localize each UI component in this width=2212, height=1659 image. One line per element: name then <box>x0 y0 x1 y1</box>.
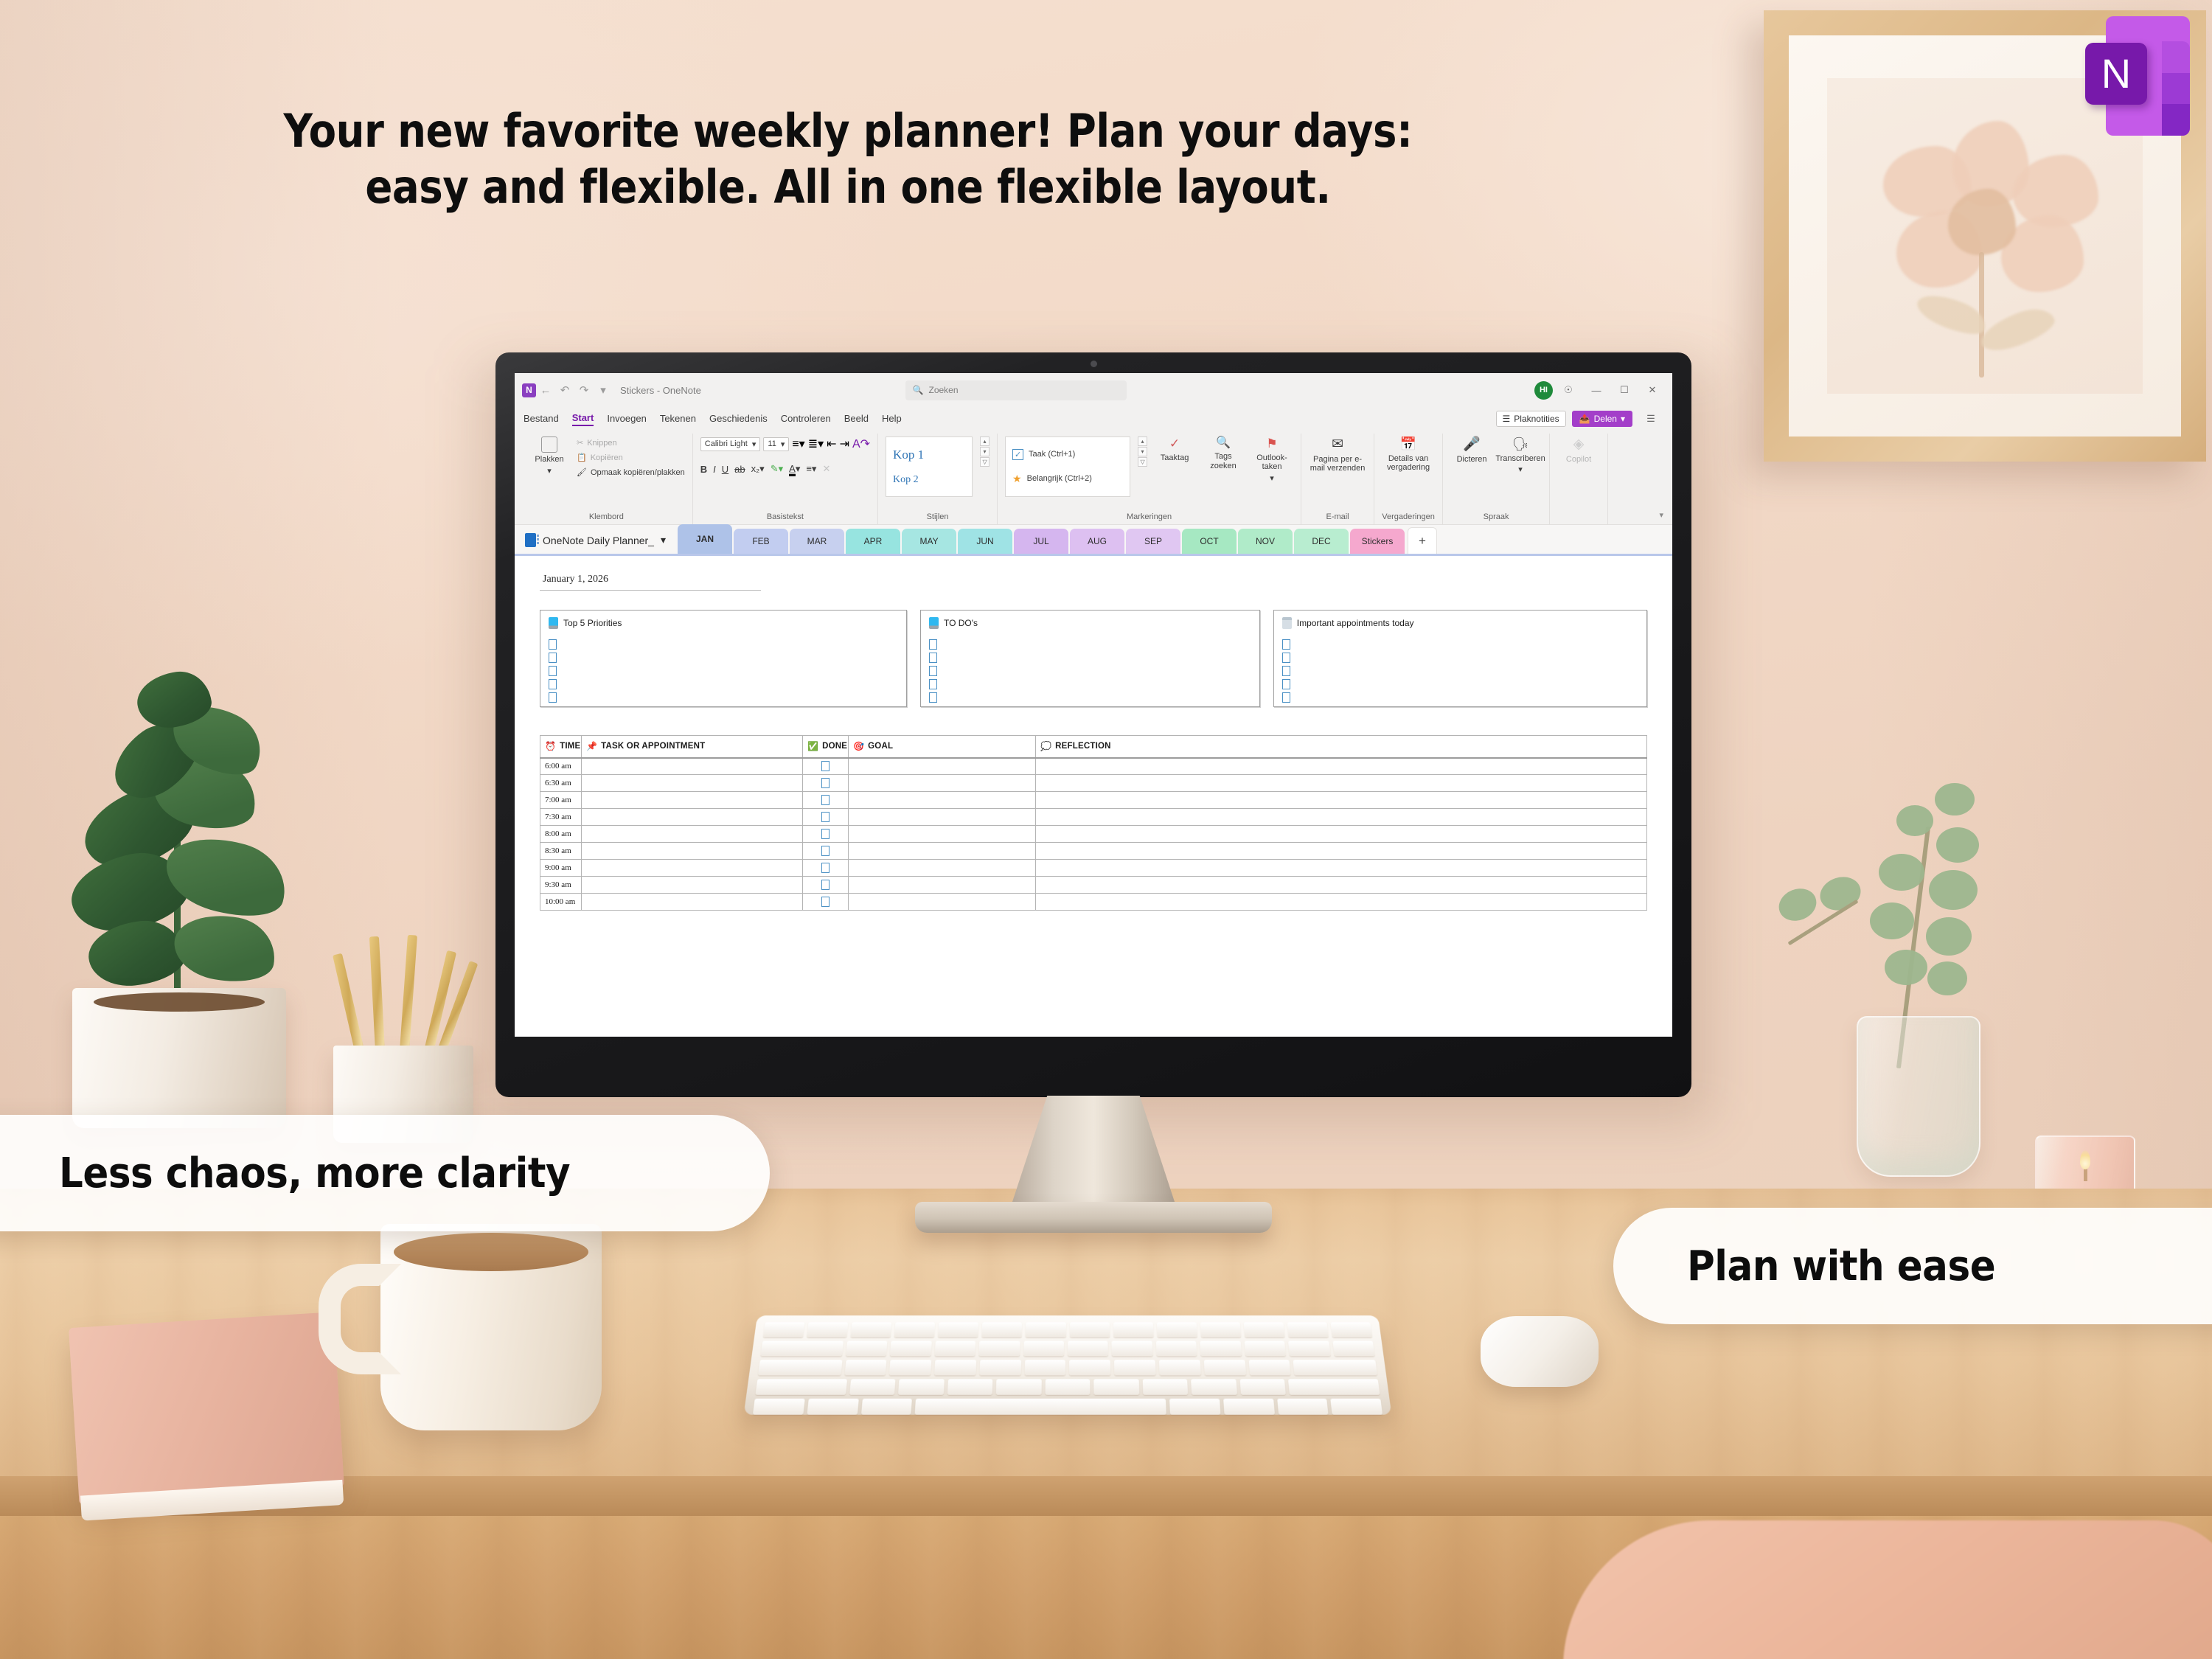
sticky-notes-button[interactable]: ☰ Plaknotities <box>1496 411 1566 427</box>
back-icon[interactable]: ← <box>536 381 555 399</box>
copy-button[interactable]: 📋 Kopiëren <box>577 453 685 462</box>
group-label-klembord: Klembord <box>528 511 685 524</box>
share-button[interactable]: 📤 Delen ▾ <box>1572 411 1632 427</box>
star-icon: ★ <box>1012 473 1022 485</box>
section-tab-sep[interactable]: SEP <box>1126 529 1180 554</box>
cell-goal[interactable] <box>849 792 1036 809</box>
redo-icon[interactable]: ↷ <box>574 381 594 399</box>
checkbox[interactable] <box>821 829 829 839</box>
section-tab-apr[interactable]: APR <box>846 529 900 554</box>
onenote-logo-letter: N <box>2085 43 2147 105</box>
cut-button[interactable]: ✂ Knippen <box>577 438 685 448</box>
cell-goal[interactable] <box>849 877 1036 894</box>
sticky-notes-label: Plaknotities <box>1514 414 1559 424</box>
ribbon-group-klembord: Plakken ▾ ✂ Knippen 📋 Kopiëren <box>521 434 693 524</box>
cell-task[interactable] <box>582 809 803 826</box>
style-kop1[interactable]: Kop 1 <box>893 448 965 462</box>
ribbon-group-stijlen: Kop 1 Kop 2 ▴ ▾ ▽ Stijlen <box>878 434 998 524</box>
table-row[interactable]: 8:00 am <box>540 826 1647 843</box>
tag-task-label: Taak (Ctrl+1) <box>1029 450 1075 459</box>
ribbon-group-email: ✉ Pagina per e-mail verzenden E-mail <box>1301 434 1374 524</box>
clear-formatting-icon[interactable]: A↷ <box>852 437 870 451</box>
cell-reflection[interactable] <box>1036 894 1647 911</box>
table-row[interactable]: 9:00 am <box>540 860 1647 877</box>
collapse-ribbon-icon[interactable]: ▾ <box>1659 510 1663 520</box>
close-button[interactable]: ✕ <box>1640 380 1665 400</box>
group-label-email: E-mail <box>1309 511 1366 524</box>
clear-format-icon[interactable]: ✕ <box>822 463 830 475</box>
chevron-down-icon: ▾ <box>752 439 757 449</box>
section-tab-aug[interactable]: AUG <box>1070 529 1124 554</box>
group-label-vergaderingen: Vergaderingen <box>1382 511 1435 524</box>
checkbox[interactable] <box>1282 653 1290 663</box>
copilot-icon: ◈ <box>1573 437 1585 453</box>
share-icon: 📤 <box>1579 414 1590 424</box>
restore-button[interactable]: ☐ <box>1612 380 1637 400</box>
checkbox[interactable] <box>1282 639 1290 650</box>
titlebar-right-controls: HI ☉ — ☐ ✕ <box>1534 380 1665 400</box>
font-size-value: 11 <box>768 439 776 448</box>
styles-gallery[interactable]: Kop 1 Kop 2 <box>886 437 973 497</box>
cell-task[interactable] <box>582 826 803 843</box>
outlook-tasks-button[interactable]: ⚑ Outlook-taken ▾ <box>1251 437 1293 483</box>
target-icon: 🎯 <box>853 742 864 751</box>
badge-less-chaos: Less chaos, more clarity <box>0 1115 770 1231</box>
menu-tab-beeld[interactable]: Beeld <box>844 413 869 425</box>
checkbox-list <box>549 639 898 703</box>
checkbox-list <box>1282 639 1638 703</box>
section-tab-may[interactable]: MAY <box>902 529 956 554</box>
ribbon-group-markeringen: ✓ Taak (Ctrl+1) ★ Belangrijk (Ctrl+2) ▴ <box>998 434 1301 524</box>
scroll-up-icon[interactable]: ▴ <box>980 437 990 446</box>
find-tags-label: Tags zoeken <box>1202 452 1245 470</box>
cell-goal[interactable] <box>849 894 1036 911</box>
cell-goal[interactable] <box>849 775 1036 792</box>
monitor-screen: N ← ↶ ↷ ▾ Stickers - OneNote 🔍 Zoeken HI… <box>515 373 1672 1037</box>
copilot-button[interactable]: ◈ Copilot <box>1557 437 1600 464</box>
email-page-button[interactable]: ✉ Pagina per e-mail verzenden <box>1309 437 1366 473</box>
group-label-markeringen: Markeringen <box>1005 511 1293 524</box>
column-header-reflection: 💭REFLECTION <box>1036 736 1647 758</box>
table-header-row: ⏰TIME 📌TASK OR APPOINTMENT ✅DONE 🎯GOAL <box>540 736 1647 758</box>
task-tag-label: Taaktag <box>1161 453 1189 463</box>
customize-quick-access-icon[interactable]: ▾ <box>594 381 613 399</box>
title-bar: N ← ↶ ↷ ▾ Stickers - OneNote 🔍 Zoeken HI… <box>515 373 1672 407</box>
section-tab-stickers[interactable]: Stickers <box>1350 529 1405 554</box>
panel-title: Important appointments today <box>1297 618 1414 628</box>
ribbon-tab-bar: Bestand Start Invoegen Tekenen Geschiede… <box>515 407 1672 431</box>
tags-scroll[interactable]: ▴ ▾ ▽ <box>1138 437 1147 467</box>
cell-reflection[interactable] <box>1036 843 1647 860</box>
menu-right-actions: ☰ Plaknotities 📤 Delen ▾ ☰ <box>1496 409 1663 428</box>
mug-coffee <box>394 1233 588 1271</box>
cell-done[interactable] <box>803 894 849 911</box>
cell-done[interactable] <box>803 843 849 860</box>
highlight-icon[interactable]: ✎▾ <box>771 463 783 475</box>
scroll-down-icon[interactable]: ▾ <box>1138 447 1147 456</box>
checkbox[interactable] <box>929 692 937 703</box>
menu-tab-help[interactable]: Help <box>882 413 902 425</box>
table-row[interactable]: 7:30 am <box>540 809 1647 826</box>
cell-task[interactable] <box>582 877 803 894</box>
app-icon: N <box>522 383 536 397</box>
format-row: B I U ab x₂▾ ✎▾ A▾ ≡▾ ✕ <box>700 463 831 475</box>
cell-done[interactable] <box>803 758 849 775</box>
cell-reflection[interactable] <box>1036 860 1647 877</box>
coffee-mug <box>380 1224 602 1430</box>
cell-task[interactable] <box>582 843 803 860</box>
cell-goal[interactable] <box>849 826 1036 843</box>
notebook-selector[interactable]: OneNote Daily Planner_ ▾ <box>515 533 678 554</box>
cell-done[interactable] <box>803 860 849 877</box>
paste-icon <box>541 437 557 453</box>
cell-goal[interactable] <box>849 843 1036 860</box>
thought-bubble-icon: 💭 <box>1040 742 1051 751</box>
tag-important-label: Belangrijk (Ctrl+2) <box>1027 474 1092 483</box>
format-painter-button[interactable]: 🖌 Opmaak kopiëren/plakken <box>577 467 685 477</box>
flag-icon: ⚑ <box>1266 437 1277 451</box>
table-row[interactable]: 6:30 am <box>540 775 1647 792</box>
table-row[interactable]: 10:00 am <box>540 894 1647 911</box>
cell-reflection[interactable] <box>1036 792 1647 809</box>
chevron-down-icon: ▾ <box>661 534 666 546</box>
group-label-spraak: Spraak <box>1450 511 1542 524</box>
cell-done[interactable] <box>803 877 849 894</box>
share-label: Delen <box>1594 414 1617 424</box>
font-name-select[interactable]: Calibri Light ▾ <box>700 437 761 451</box>
keyboard[interactable] <box>744 1315 1392 1415</box>
chevron-down-icon: ▾ <box>547 467 552 476</box>
badge-plan-with-ease: Plan with ease <box>1613 1208 2212 1324</box>
paste-button[interactable]: Plakken ▾ <box>528 437 571 476</box>
microphone-icon: 🎤 <box>1463 437 1481 453</box>
underline-button[interactable]: U <box>722 464 728 475</box>
ribbon: Plakken ▾ ✂ Knippen 📋 Kopiëren <box>515 431 1672 525</box>
group-label-basistekst: Basistekst <box>700 511 870 524</box>
subscript-button[interactable]: x₂▾ <box>751 463 765 475</box>
onenote-logo: N <box>2085 16 2190 136</box>
check-mark-icon: ✅ <box>807 742 818 751</box>
group-label-copilot <box>1557 520 1600 524</box>
checkbox[interactable] <box>929 639 937 650</box>
font-row: Calibri Light ▾ 11 ▾ ≡▾ ≣▾ ⇤ ⇥ <box>700 437 870 451</box>
transcribe-label: Transcriberen <box>1495 454 1545 464</box>
minimize-button[interactable]: — <box>1584 380 1609 400</box>
table-row[interactable]: 7:00 am <box>540 792 1647 809</box>
expand-gallery-icon[interactable]: ▽ <box>980 457 990 467</box>
styles-scroll[interactable]: ▴ ▾ ▽ <box>980 437 990 467</box>
group-label-stijlen: Stijlen <box>886 511 990 524</box>
checkbox[interactable] <box>1282 692 1290 703</box>
paste-label: Plakken <box>535 455 563 465</box>
cell-time: 8:00 am <box>540 826 582 843</box>
menu-tab-bestand[interactable]: Bestand <box>524 413 559 425</box>
tag-task[interactable]: ✓ Taak (Ctrl+1) <box>1012 449 1123 460</box>
calendar-icon: 📅 <box>1400 437 1416 452</box>
numbered-list-icon[interactable]: ≣▾ <box>808 437 824 451</box>
avatar[interactable]: HI <box>1534 381 1553 400</box>
checkbox[interactable] <box>929 666 937 676</box>
chevron-down-icon: ▾ <box>1270 474 1274 484</box>
panel-title: Top 5 Priorities <box>563 618 622 628</box>
panel-header: Important appointments today <box>1282 617 1638 629</box>
section-tab-nov[interactable]: NOV <box>1238 529 1293 554</box>
checkbox[interactable] <box>821 880 829 890</box>
tag-important[interactable]: ★ Belangrijk (Ctrl+2) <box>1012 473 1123 485</box>
header-label: REFLECTION <box>1055 742 1110 751</box>
cell-time: 8:30 am <box>540 843 582 860</box>
checkbox[interactable] <box>549 679 557 689</box>
checkbox[interactable] <box>1282 679 1290 689</box>
window-title: Stickers - OneNote <box>620 385 701 396</box>
cell-reflection[interactable] <box>1036 877 1647 894</box>
expand-tags-icon[interactable]: ▽ <box>1138 457 1147 467</box>
section-tab-feb[interactable]: FEB <box>734 529 788 554</box>
meeting-details-label: Details van vergadering <box>1382 454 1435 473</box>
chevron-down-icon: ▾ <box>1518 465 1523 475</box>
monitor-stand-base <box>915 1202 1272 1233</box>
checkbox[interactable] <box>821 897 829 907</box>
check-tag-icon: ✓ <box>1169 437 1180 451</box>
panel-appointments[interactable]: Important appointments today <box>1273 610 1647 707</box>
cell-time: 6:00 am <box>540 758 582 775</box>
copy-label: Kopiëren <box>591 453 623 462</box>
cell-reflection[interactable] <box>1036 775 1647 792</box>
transcribe-button[interactable]: 🗣 Transcriberen ▾ <box>1499 437 1542 475</box>
checkbox[interactable] <box>821 863 829 873</box>
webcam <box>1091 361 1097 367</box>
find-tags-button[interactable]: 🔍 Tags zoeken <box>1202 437 1245 471</box>
increase-indent-icon[interactable]: ⇥ <box>840 437 849 451</box>
undo-icon[interactable]: ↶ <box>555 381 574 399</box>
panel-todos[interactable]: TO DO's <box>920 610 1260 707</box>
search-tags-icon: 🔍 <box>1216 437 1231 450</box>
style-kop2[interactable]: Kop 2 <box>893 474 965 486</box>
cell-task[interactable] <box>582 775 803 792</box>
paintbrush-icon: 🖌 <box>577 467 587 477</box>
section-tab-oct[interactable]: OCT <box>1182 529 1237 554</box>
notebook-icon <box>525 533 536 547</box>
panel-top-priorities[interactable]: Top 5 Priorities <box>540 610 907 707</box>
menu-tab-tekenen[interactable]: Tekenen <box>660 413 696 425</box>
cell-time: 9:30 am <box>540 877 582 894</box>
page-canvas[interactable]: January 1, 2026 Top 5 Priorities <box>515 556 1672 1037</box>
section-tabs: JAN FEB MAR APR MAY JUN JUL AUG SEP OCT … <box>678 524 1437 554</box>
daily-schedule-table[interactable]: ⏰TIME 📌TASK OR APPOINTMENT ✅DONE 🎯GOAL <box>540 735 1647 911</box>
column-header-time: ⏰TIME <box>540 736 582 758</box>
header-label: DONE <box>822 742 847 751</box>
table-row[interactable]: 6:00 am <box>540 758 1647 775</box>
monitor-icon <box>549 617 558 629</box>
checkbox[interactable] <box>549 666 557 676</box>
menu-tab-invoegen[interactable]: Invoegen <box>607 413 647 425</box>
format-painter-label: Opmaak kopiëren/plakken <box>591 468 685 477</box>
headline-line-1: Your new favorite weekly planner! Plan y… <box>102 103 1594 159</box>
italic-button[interactable]: I <box>713 464 716 475</box>
sticky-note-icon: ☰ <box>1503 414 1511 424</box>
header-label: GOAL <box>868 742 893 751</box>
copy-icon: 📋 <box>577 453 587 462</box>
cell-done[interactable] <box>803 792 849 809</box>
table-row[interactable]: 8:30 am <box>540 843 1647 860</box>
cell-time: 10:00 am <box>540 894 582 911</box>
cell-goal[interactable] <box>849 860 1036 877</box>
search-icon: 🔍 <box>913 385 924 395</box>
section-tab-jan[interactable]: JAN <box>678 524 732 554</box>
checkbox[interactable] <box>929 679 937 689</box>
scroll-up-icon[interactable]: ▴ <box>1138 437 1147 446</box>
panel-header: TO DO's <box>929 617 1251 629</box>
table-row[interactable]: 9:30 am <box>540 877 1647 894</box>
column-header-goal: 🎯GOAL <box>849 736 1036 758</box>
mug-handle <box>319 1264 401 1374</box>
cell-goal[interactable] <box>849 758 1036 775</box>
envelope-icon: ✉ <box>1332 437 1343 453</box>
onenote-logo-tabs <box>2162 41 2190 136</box>
alarm-clock-icon: ⏰ <box>545 742 556 751</box>
ribbon-group-basistekst: Calibri Light ▾ 11 ▾ ≡▾ ≣▾ ⇤ ⇥ <box>693 434 878 524</box>
section-tab-dec[interactable]: DEC <box>1294 529 1349 554</box>
location-pin-icon[interactable]: ☉ <box>1556 380 1581 400</box>
chevron-down-icon: ▾ <box>1621 414 1625 424</box>
pushpin-icon: 📌 <box>586 742 597 751</box>
cell-time: 7:00 am <box>540 792 582 809</box>
sweater-throw <box>1563 1520 2212 1659</box>
onenote-application: N ← ↶ ↷ ▾ Stickers - OneNote 🔍 Zoeken HI… <box>515 373 1672 1037</box>
checkbox-icon: ✓ <box>1012 449 1023 460</box>
column-header-task: 📌TASK OR APPOINTMENT <box>582 736 803 758</box>
building-icon <box>1282 617 1292 629</box>
bullet-list-icon[interactable]: ≡▾ <box>792 437 804 451</box>
cell-reflection[interactable] <box>1036 826 1647 843</box>
cell-task[interactable] <box>582 860 803 877</box>
monitor-icon <box>929 617 939 629</box>
cell-reflection[interactable] <box>1036 809 1647 826</box>
checkbox[interactable] <box>549 639 557 650</box>
section-tab-mar[interactable]: MAR <box>790 529 844 554</box>
page-title-date[interactable]: January 1, 2026 <box>540 572 761 591</box>
checkbox[interactable] <box>929 653 937 663</box>
cell-time: 9:00 am <box>540 860 582 877</box>
table-body: 6:00 am 6:30 am 7:00 am 7:30 am 8:00 am … <box>540 758 1647 911</box>
checkbox[interactable] <box>821 795 829 805</box>
section-tab-jun[interactable]: JUN <box>958 529 1012 554</box>
mouse[interactable] <box>1481 1316 1599 1387</box>
copilot-label: Copilot <box>1566 455 1591 465</box>
checkbox[interactable] <box>821 846 829 856</box>
dictate-label: Dicteren <box>1457 455 1487 465</box>
scissors-icon: ✂ <box>577 438 583 448</box>
menu-tab-controleren[interactable]: Controleren <box>781 413 831 425</box>
cell-reflection[interactable] <box>1036 758 1647 775</box>
cell-task[interactable] <box>582 758 803 775</box>
cell-done[interactable] <box>803 826 849 843</box>
email-page-label: Pagina per e-mail verzenden <box>1309 455 1366 473</box>
scroll-down-icon[interactable]: ▾ <box>980 447 990 456</box>
cut-label: Knippen <box>587 439 616 448</box>
add-section-button[interactable]: + <box>1408 527 1437 554</box>
panel-title: TO DO's <box>944 618 978 628</box>
ribbon-group-spraak: 🎤 Dicteren 🗣 Transcriberen ▾ Spraak <box>1443 434 1550 524</box>
font-size-select[interactable]: 11 ▾ <box>763 437 789 451</box>
ribbon-group-copilot: ◈ Copilot <box>1550 434 1608 524</box>
header-label: TASK OR APPOINTMENT <box>601 742 705 751</box>
align-icon[interactable]: ≡▾ <box>806 463 816 475</box>
header-label: TIME <box>560 742 580 751</box>
cell-task[interactable] <box>582 792 803 809</box>
cell-time: 7:30 am <box>540 809 582 826</box>
notebook-name: OneNote Daily Planner_ <box>543 535 654 546</box>
meeting-details-button[interactable]: 📅 Details van vergadering <box>1382 437 1435 473</box>
outlook-tasks-label: Outlook-taken <box>1251 453 1293 472</box>
font-color-icon[interactable]: A▾ <box>789 463 800 475</box>
cell-done[interactable] <box>803 775 849 792</box>
marketing-headline: Your new favorite weekly planner! Plan y… <box>102 103 1594 215</box>
cell-goal[interactable] <box>849 809 1036 826</box>
checkbox[interactable] <box>1282 666 1290 676</box>
task-tag-button[interactable]: ✓ Taaktag <box>1153 437 1196 462</box>
cell-task[interactable] <box>582 894 803 911</box>
cell-time: 6:30 am <box>540 775 582 792</box>
headline-line-2: easy and flexible. All in one flexible l… <box>102 159 1594 215</box>
checkbox[interactable] <box>821 778 829 788</box>
checkbox[interactable] <box>821 812 829 822</box>
strikethrough-button[interactable]: ab <box>734 464 745 475</box>
section-tab-jul[interactable]: JUL <box>1014 529 1068 554</box>
badge-left-label: Less chaos, more clarity <box>59 1150 570 1197</box>
column-header-done: ✅DONE <box>803 736 849 758</box>
bold-button[interactable]: B <box>700 464 707 475</box>
notebook-section-bar: OneNote Daily Planner_ ▾ JAN FEB MAR APR… <box>515 525 1672 556</box>
search-box[interactable]: 🔍 Zoeken <box>905 380 1127 400</box>
font-name-value: Calibri Light <box>705 439 748 448</box>
menu-tab-geschiedenis[interactable]: Geschiedenis <box>709 413 768 425</box>
summary-panels: Top 5 Priorities <box>540 610 1647 707</box>
dictate-button[interactable]: 🎤 Dicteren <box>1450 437 1493 464</box>
tags-gallery[interactable]: ✓ Taak (Ctrl+1) ★ Belangrijk (Ctrl+2) <box>1005 437 1130 497</box>
checkbox-list <box>929 639 1251 703</box>
menu-tab-start[interactable]: Start <box>572 412 594 426</box>
notebook-book <box>69 1312 344 1505</box>
checkbox[interactable] <box>549 653 557 663</box>
checkbox[interactable] <box>549 692 557 703</box>
transcribe-icon: 🗣 <box>1512 437 1529 452</box>
chevron-down-icon: ▾ <box>781 439 785 449</box>
ribbon-display-options-icon[interactable]: ☰ <box>1638 409 1663 428</box>
cell-done[interactable] <box>803 809 849 826</box>
ribbon-group-vergaderingen: 📅 Details van vergadering Vergaderingen <box>1374 434 1443 524</box>
imac-monitor: N ← ↶ ↷ ▾ Stickers - OneNote 🔍 Zoeken HI… <box>495 352 1691 1097</box>
decrease-indent-icon[interactable]: ⇤ <box>827 437 836 451</box>
checkbox[interactable] <box>821 761 829 771</box>
monitor-bezel: N ← ↶ ↷ ▾ Stickers - OneNote 🔍 Zoeken HI… <box>495 352 1691 1097</box>
candle-flame <box>2080 1150 2090 1169</box>
panel-header: Top 5 Priorities <box>549 617 898 629</box>
search-placeholder: Zoeken <box>929 385 959 395</box>
badge-right-label: Plan with ease <box>1687 1242 1995 1290</box>
